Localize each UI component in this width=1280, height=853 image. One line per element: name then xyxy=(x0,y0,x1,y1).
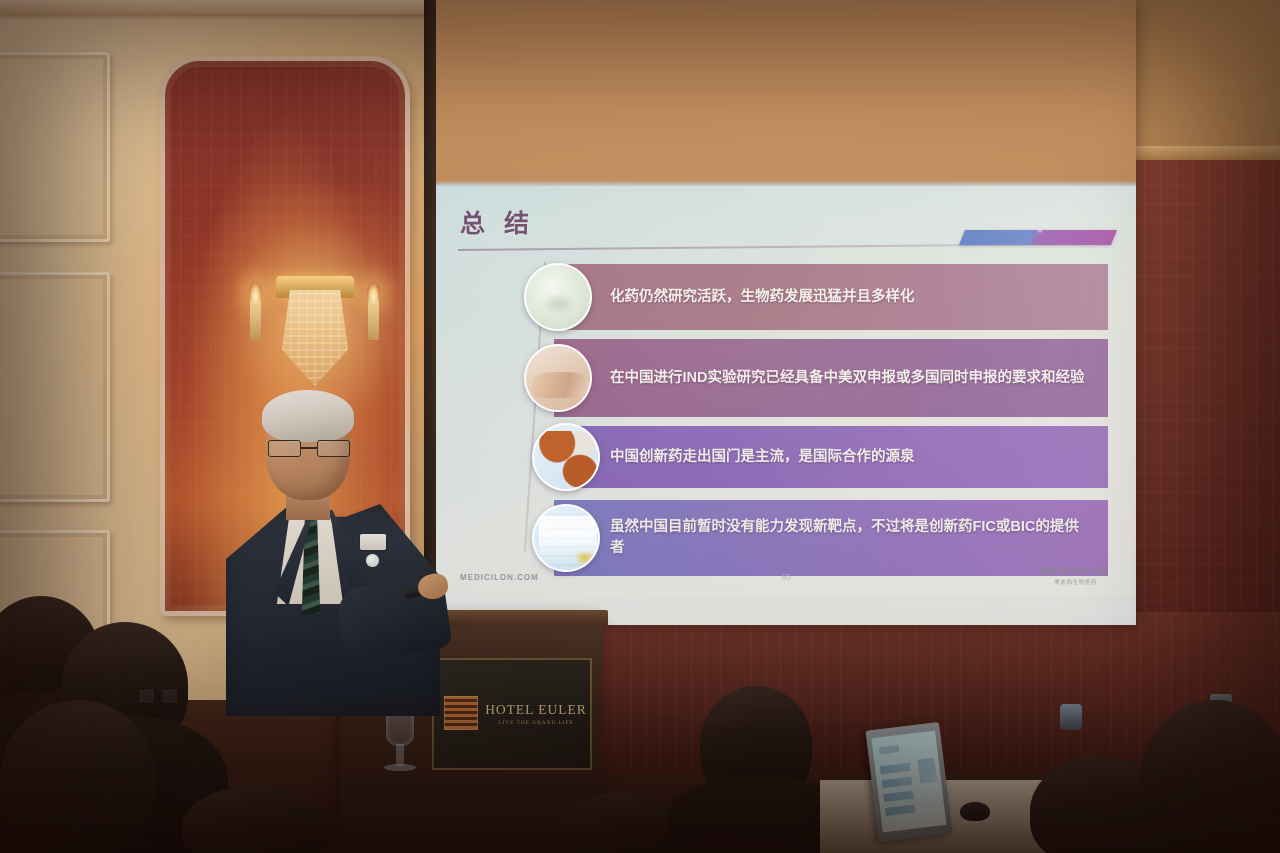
screen-upper-blank-area xyxy=(436,0,1136,186)
speaker-lapel-pin xyxy=(366,554,379,567)
flame-left-icon xyxy=(249,282,262,304)
speaker-name-badge xyxy=(360,534,386,550)
audience-head xyxy=(0,700,156,853)
glasses-lens-right xyxy=(317,440,350,457)
flame-right-icon xyxy=(367,282,380,304)
laboratory-icon xyxy=(532,504,600,572)
candle-left xyxy=(250,300,261,340)
glass-stem xyxy=(396,744,404,766)
glasses-lens-right xyxy=(161,688,178,704)
laptop-screen xyxy=(871,730,946,832)
laptop-slide-image xyxy=(917,757,937,784)
computer-mouse xyxy=(960,802,990,821)
logo-brand-chinese: 美迪西生物医药 xyxy=(1041,578,1110,586)
venue-sign: HOTEL EULER LIVE THE GRAND LIFE xyxy=(432,658,592,770)
candle-right xyxy=(368,300,379,340)
laptop-slide-bar xyxy=(885,805,915,817)
bullet-bar-text: 中国创新药走出国门是主流，是国际合作的源泉 xyxy=(554,426,1108,488)
wall-panel-moulding xyxy=(0,52,110,242)
lab-sample-icon xyxy=(524,263,592,331)
list-item: 在中国进行IND实验研究已经具备中美双申报或多国同时申报的要求和经验 xyxy=(436,339,1136,417)
venue-tagline: LIVE THE GRAND LIFE xyxy=(484,720,588,726)
medicilon-logo: MEDICILON 美迪西生物医药 xyxy=(1041,566,1110,586)
conference-photo-scene: 总 结 化药仍然研究活跃，生物药发展迅猛并且多样化 在中国进行IND实验研究已经… xyxy=(0,0,1280,853)
audience-glasses-icon xyxy=(138,688,178,704)
glasses-lens-left xyxy=(138,688,155,704)
wall-panel-moulding xyxy=(0,272,110,502)
slide-title: 总 结 xyxy=(460,204,535,240)
laptop-slide-bar xyxy=(880,762,910,774)
speaker-glasses-icon xyxy=(268,440,350,457)
glasses-bridge xyxy=(301,447,317,449)
speaker-presenter xyxy=(222,386,452,716)
handshake-icon xyxy=(524,344,592,412)
glass-base xyxy=(384,764,416,771)
laptop-slide-title xyxy=(879,745,899,754)
bullet-list: 化药仍然研究活跃，生物药发展迅猛并且多样化 在中国进行IND实验研究已经具备中美… xyxy=(436,264,1136,576)
venue-name: HOTEL EULER xyxy=(484,702,588,718)
presentation-slide: 总 结 化药仍然研究活跃，生物药发展迅猛并且多样化 在中国进行IND实验研究已经… xyxy=(436,186,1136,596)
glasses-bridge xyxy=(155,695,161,697)
projection-screen: 总 结 化药仍然研究活跃，生物药发展迅猛并且多样化 在中国进行IND实验研究已经… xyxy=(436,0,1136,625)
laptop-slide-bar xyxy=(882,776,912,788)
slide-page-number: 60 xyxy=(782,573,791,582)
slide-footer-url: MEDICILON.COM xyxy=(460,573,539,582)
list-item: 化药仍然研究活跃，生物药发展迅猛并且多样化 xyxy=(436,264,1136,330)
list-item: 中国创新药走出国门是主流，是国际合作的源泉 xyxy=(436,426,1136,488)
laptop-slide-bar xyxy=(883,791,913,803)
list-item: 虽然中国目前暂时没有能力发现新靶点，不过将是创新药FIC或BIC的提供者 xyxy=(436,500,1136,576)
glasses-lens-left xyxy=(268,440,301,457)
speaker-hair xyxy=(262,390,354,442)
logo-brand-text: MEDICILON xyxy=(1041,566,1110,577)
bullet-bar-text: 在中国进行IND实验研究已经具备中美双申报或多国同时申报的要求和经验 xyxy=(554,339,1108,417)
presenter-laptop xyxy=(865,722,952,842)
capsules-icon xyxy=(532,423,600,491)
bullet-bar-text: 虽然中国目前暂时没有能力发现新靶点，不过将是创新药FIC或BIC的提供者 xyxy=(554,500,1108,576)
accent-highlight xyxy=(1036,227,1044,233)
water-bottle-small xyxy=(1060,704,1082,730)
wall-cornice xyxy=(0,0,440,14)
bullet-bar-text: 化药仍然研究活跃，生物药发展迅猛并且多样化 xyxy=(554,264,1108,330)
